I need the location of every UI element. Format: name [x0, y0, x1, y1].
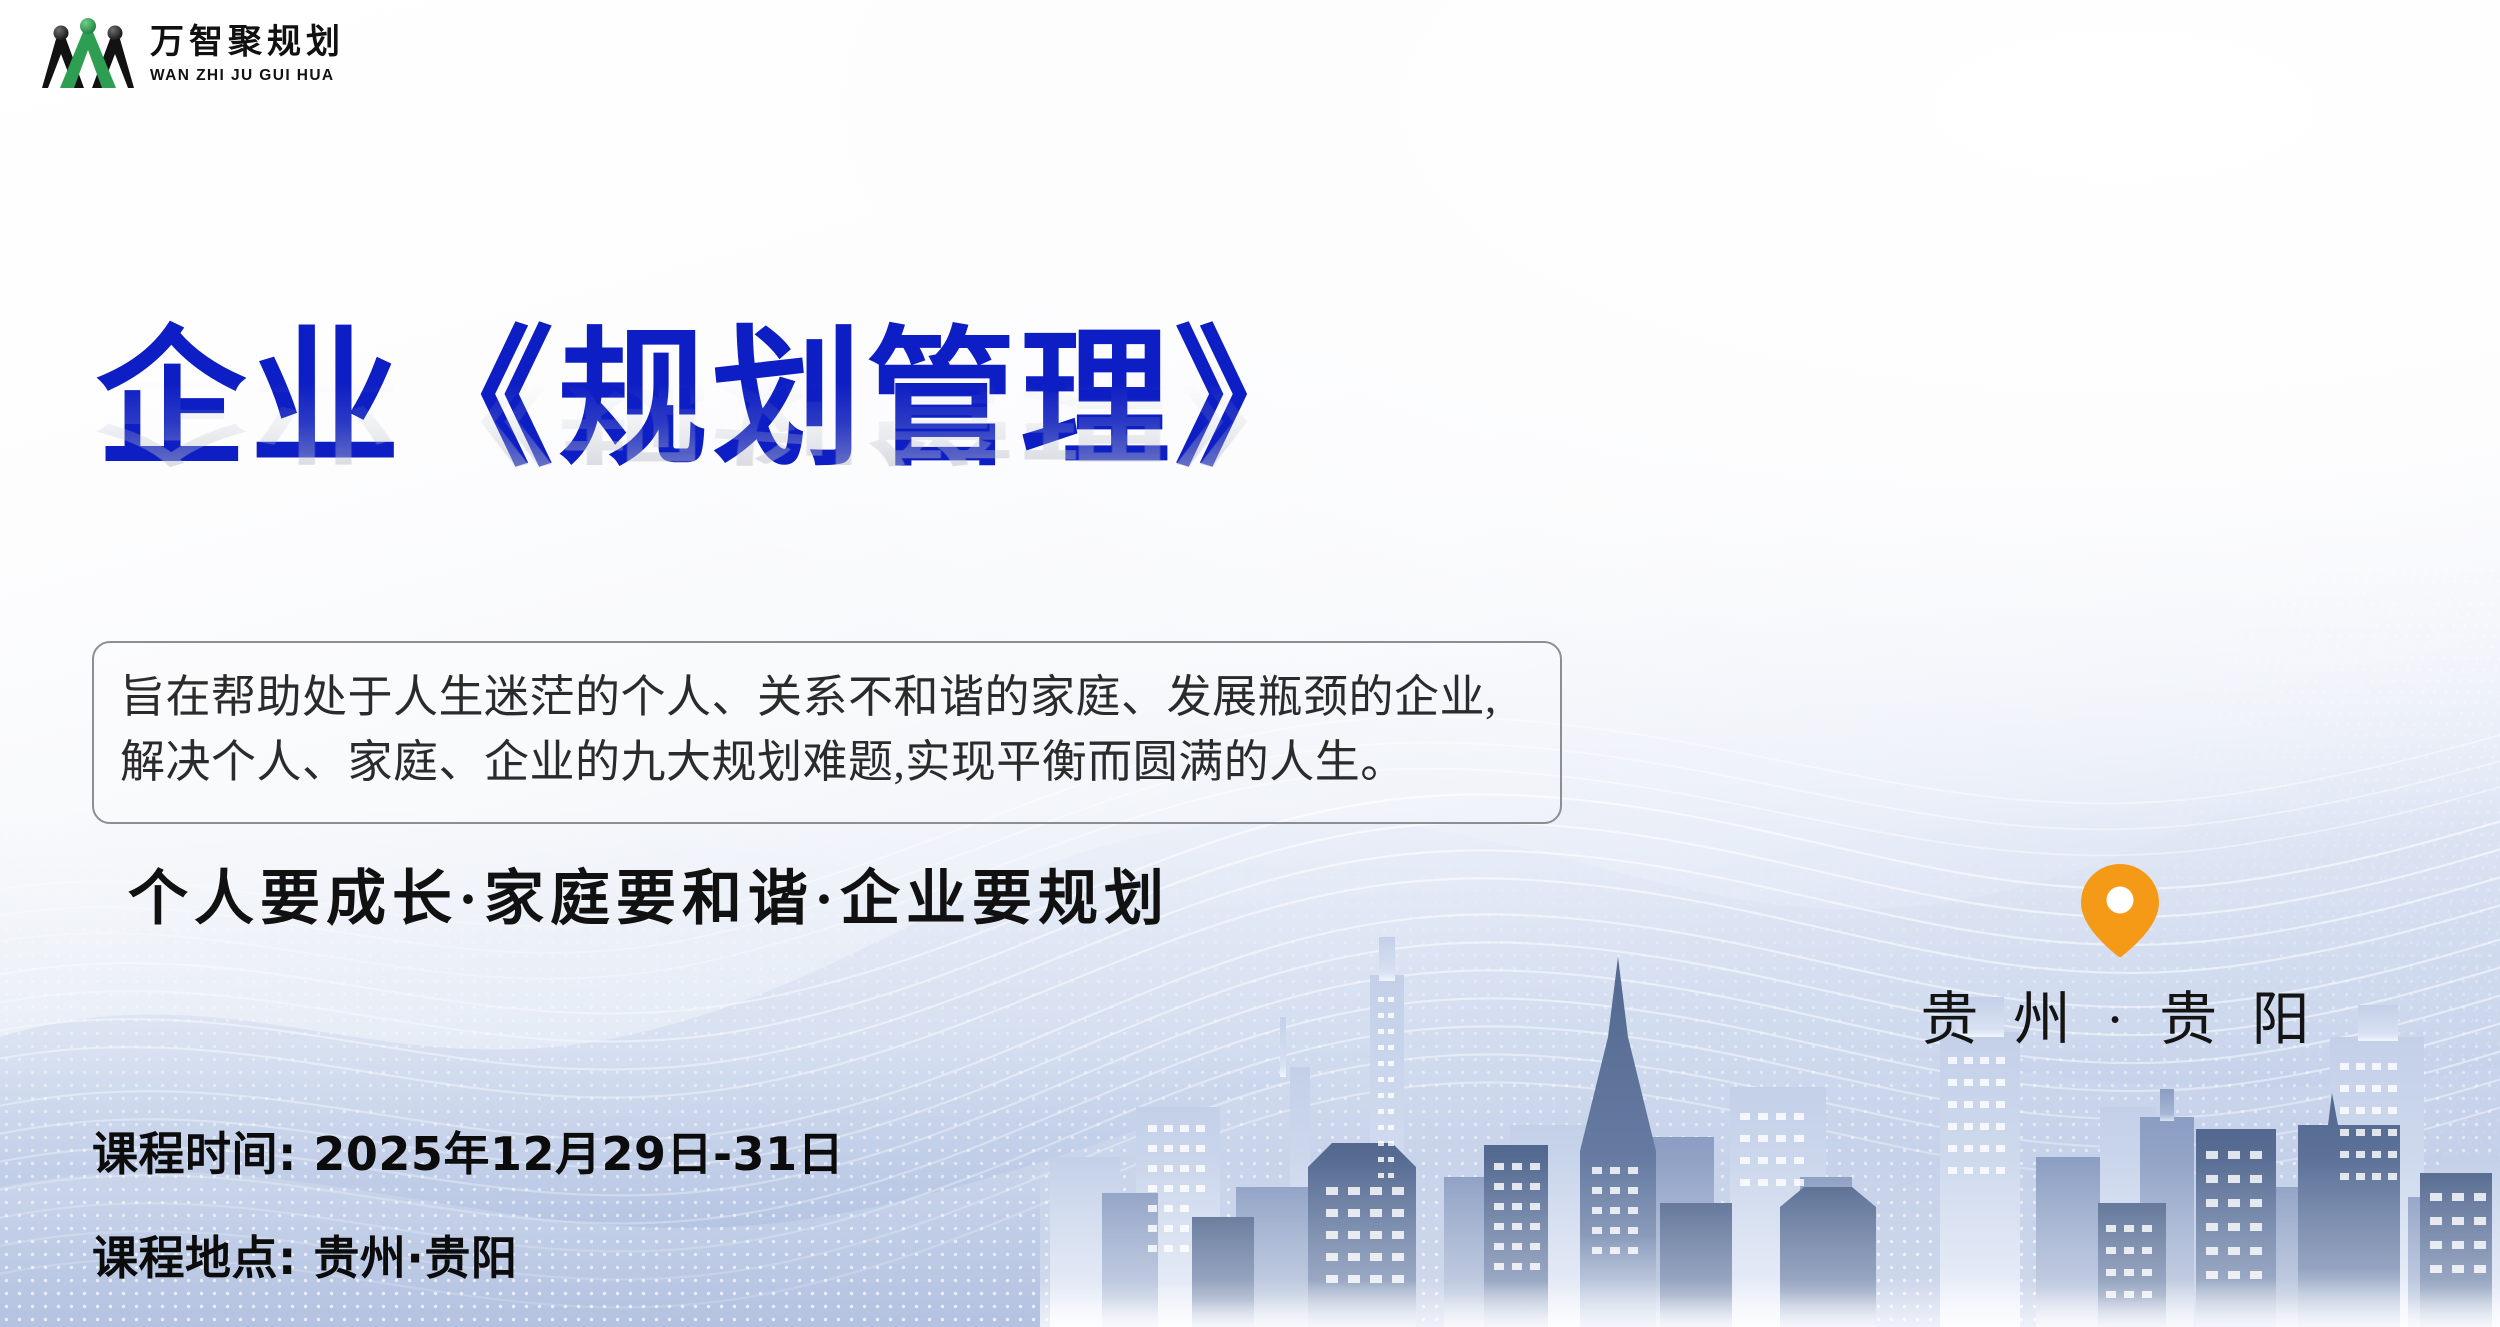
- location-badge: 贵 州 · 贵 阳: [1950, 862, 2290, 1056]
- slogan-text: 个人要成长·家庭要和谐·企业要规划: [128, 850, 1170, 937]
- hero-title-block: 企业《规划管理》 企业《规划管理》: [96, 316, 1696, 638]
- map-pin-icon: [2077, 862, 2163, 958]
- course-place-row: 课程地点: 贵州·贵阳: [92, 1222, 844, 1288]
- description-line-2: 解决个人、家庭、企业的九大规划难题,实现平衡而圆满的人生。: [120, 730, 1534, 795]
- brand-text: 万智聚规划 WAN ZHI JU GUI HUA: [150, 26, 345, 84]
- course-info-block: 课程时间: 2025年12月29日-31日 课程地点: 贵州·贵阳: [92, 1118, 844, 1288]
- brand-name-en: WAN ZHI JU GUI HUA: [150, 68, 345, 84]
- location-name: 贵 州 · 贵 阳: [1920, 972, 2319, 1056]
- description-line-1: 旨在帮助处于人生迷茫的个人、关系不和谐的家庭、发展瓶颈的企业,: [120, 665, 1534, 730]
- three-people-m-logo-icon: [42, 16, 134, 94]
- poster-canvas: 万智聚规划 WAN ZHI JU GUI HUA 企业《规划管理》 企业《规划管…: [0, 0, 2500, 1327]
- page-title: 企业《规划管理》: [96, 316, 1696, 484]
- course-time-row: 课程时间: 2025年12月29日-31日: [92, 1118, 844, 1184]
- description-box: 旨在帮助处于人生迷茫的个人、关系不和谐的家庭、发展瓶颈的企业, 解决个人、家庭、…: [92, 641, 1562, 824]
- brand-name-cn: 万智聚规划: [150, 26, 345, 60]
- brand-logo[interactable]: 万智聚规划 WAN ZHI JU GUI HUA: [42, 16, 345, 94]
